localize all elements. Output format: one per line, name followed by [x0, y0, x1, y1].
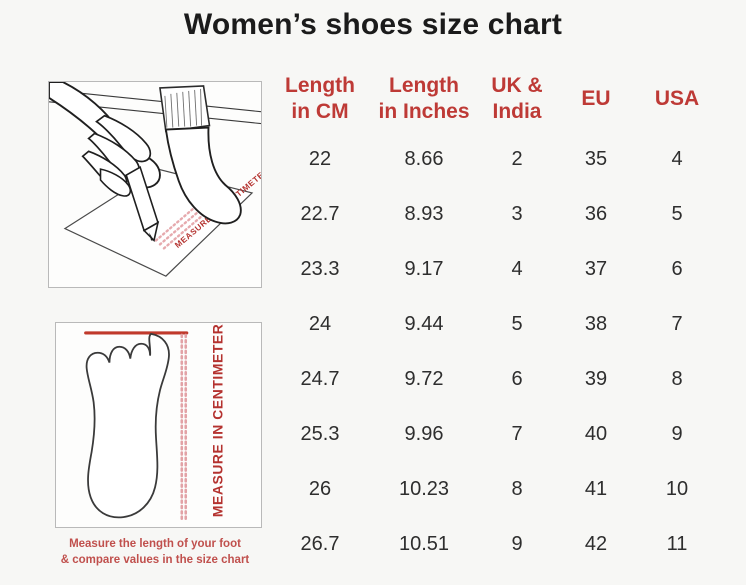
cell-usa: 8	[634, 352, 720, 407]
cell-uk-india: 2	[476, 132, 558, 187]
cell-uk-india: 6	[476, 352, 558, 407]
illustration-foot-outline-with-ruler: MEASURE IN CENTIMETERS	[55, 322, 262, 528]
cell-length-inches: 8.93	[372, 187, 476, 242]
table-row: 26.7 10.51 9 42 11	[268, 517, 720, 572]
cell-uk-india: 8	[476, 462, 558, 517]
cell-length-cm: 26.7	[268, 517, 372, 572]
cell-usa: 9	[634, 407, 720, 462]
page-title: Women’s shoes size chart	[0, 8, 746, 42]
cell-eu: 38	[558, 297, 634, 352]
trace-foot-illustration-svg: MEASURE IN CENTIMETERS	[49, 82, 261, 287]
column-header-line-2: in Inches	[372, 99, 476, 125]
cell-eu: 35	[558, 132, 634, 187]
cell-length-cm: 26	[268, 462, 372, 517]
cell-uk-india: 5	[476, 297, 558, 352]
cell-eu: 40	[558, 407, 634, 462]
column-header-line-1: USA	[634, 86, 720, 112]
table-body: 22 8.66 2 35 4 22.7 8.93 3 36 5 23.3 9.1…	[268, 132, 720, 572]
foot-outline-svg: MEASURE IN CENTIMETERS	[56, 323, 261, 527]
column-header-usa: USA	[634, 66, 720, 132]
illustration-trace-foot-on-paper: MEASURE IN CENTIMETERS	[48, 81, 262, 288]
cell-usa: 7	[634, 297, 720, 352]
table-row: 22.7 8.93 3 36 5	[268, 187, 720, 242]
table-row: 24 9.44 5 38 7	[268, 297, 720, 352]
measure-caption-line-1: Measure the length of your foot	[40, 536, 270, 552]
cell-eu: 41	[558, 462, 634, 517]
cell-length-inches: 8.66	[372, 132, 476, 187]
cell-length-inches: 9.17	[372, 242, 476, 297]
cell-length-inches: 9.72	[372, 352, 476, 407]
cell-length-cm: 24	[268, 297, 372, 352]
cell-length-cm: 24.7	[268, 352, 372, 407]
column-header-line-1: Length	[372, 73, 476, 99]
cell-eu: 39	[558, 352, 634, 407]
illustration-column: MEASURE IN CENTIMETERS	[48, 81, 264, 288]
size-chart-table: Length in CM Length in Inches UK & India…	[268, 66, 720, 572]
cell-length-cm: 23.3	[268, 242, 372, 297]
column-header-eu: EU	[558, 66, 634, 132]
column-header-uk-india: UK & India	[476, 66, 558, 132]
cell-usa: 11	[634, 517, 720, 572]
table-header-row: Length in CM Length in Inches UK & India…	[268, 66, 720, 132]
cell-uk-india: 7	[476, 407, 558, 462]
column-header-line-1: UK &	[476, 73, 558, 99]
cell-length-inches: 10.23	[372, 462, 476, 517]
cell-length-cm: 25.3	[268, 407, 372, 462]
measure-caption-line-2: & compare values in the size chart	[40, 552, 270, 568]
cell-usa: 5	[634, 187, 720, 242]
column-header-line-1: EU	[558, 86, 634, 112]
column-header-line-2: India	[476, 99, 558, 125]
table-row: 22 8.66 2 35 4	[268, 132, 720, 187]
cell-uk-india: 4	[476, 242, 558, 297]
cell-length-inches: 9.44	[372, 297, 476, 352]
table-row: 24.7 9.72 6 39 8	[268, 352, 720, 407]
cell-eu: 36	[558, 187, 634, 242]
cell-length-cm: 22.7	[268, 187, 372, 242]
cell-eu: 37	[558, 242, 634, 297]
cell-eu: 42	[558, 517, 634, 572]
column-header-line-2: in CM	[268, 99, 372, 125]
cell-length-inches: 9.96	[372, 407, 476, 462]
cell-uk-india: 9	[476, 517, 558, 572]
table-row: 23.3 9.17 4 37 6	[268, 242, 720, 297]
ruler-label-text: MEASURE IN CENTIMETERS	[209, 323, 225, 517]
cell-usa: 4	[634, 132, 720, 187]
cell-uk-india: 3	[476, 187, 558, 242]
cell-length-inches: 10.51	[372, 517, 476, 572]
cell-usa: 6	[634, 242, 720, 297]
size-chart-table-wrapper: Length in CM Length in Inches UK & India…	[268, 66, 720, 572]
cell-length-cm: 22	[268, 132, 372, 187]
column-header-length-cm: Length in CM	[268, 66, 372, 132]
column-header-line-1: Length	[268, 73, 372, 99]
measure-caption: Measure the length of your foot & compar…	[40, 536, 270, 568]
table-row: 26 10.23 8 41 10	[268, 462, 720, 517]
column-header-length-inches: Length in Inches	[372, 66, 476, 132]
cell-usa: 10	[634, 462, 720, 517]
table-row: 25.3 9.96 7 40 9	[268, 407, 720, 462]
